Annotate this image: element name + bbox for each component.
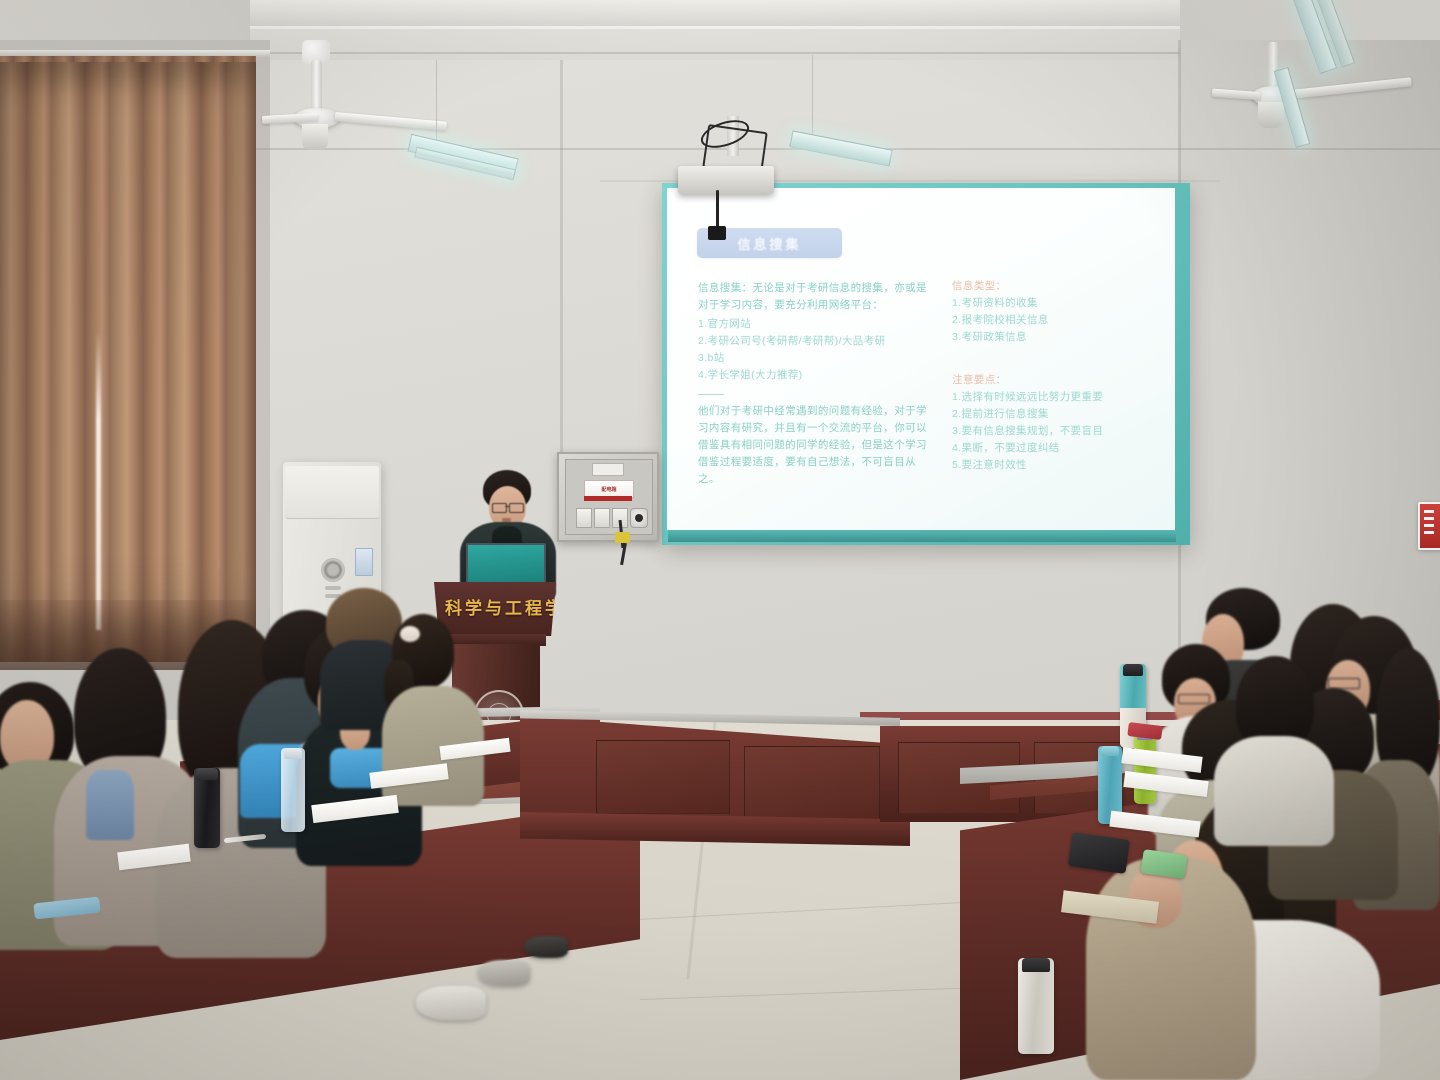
presenter-laptop[interactable] [466, 543, 546, 587]
slide-left-intro: 信息搜集：无论是对于考研信息的搜集，亦或是对于学习内容，要充分利用网络平台： [698, 280, 928, 314]
glasses-right-audience [1178, 694, 1210, 704]
ebox-label-text: 配电箱 [601, 486, 616, 493]
ebox-switch-1[interactable] [576, 508, 592, 528]
podium-top: 科学与工程学院 [434, 582, 556, 636]
curtain-light-gap [96, 330, 101, 630]
slide-divider [698, 394, 724, 395]
slide-left-item-4: 4.学长学姐(大力推荐) [698, 367, 928, 384]
ebox-switch-2[interactable] [594, 508, 610, 528]
scarf [86, 770, 134, 840]
slide-right-column: 信息类型： 1.考研资料的收集 2.报考院校相关信息 3.考研政策信息 注意要点… [952, 278, 1152, 474]
slide-keypoint-3: 3.要有信息搜集规划，不要盲目 [952, 423, 1152, 440]
projection-screen: 信息搜集 信息搜集：无论是对于考研信息的搜集，亦或是对于学习内容，要充分利用网络… [662, 183, 1190, 545]
thermos-black [194, 768, 220, 848]
slide-keypoint-2: 2.提前进行信息搜集 [952, 406, 1152, 423]
hair-scrunchie [400, 626, 420, 642]
slide-keypoint-1: 1.选择有时候远远比努力更重要 [952, 389, 1152, 406]
slide-left-column: 信息搜集：无论是对于考研信息的搜集，亦或是对于学习内容，要充分利用网络平台： 1… [698, 280, 928, 488]
electrical-plug [615, 532, 630, 543]
screen-surface: 信息搜集 信息搜集：无论是对于考研信息的搜集，亦或是对于学习内容，要充分利用网络… [667, 188, 1175, 530]
slide-left-item-3: 3.b站 [698, 350, 928, 367]
projector-body [678, 166, 774, 194]
wall-seam-vertical [560, 60, 563, 480]
slide-left-paragraph: 他们对于考研中经常遇到的问题有经验，对于学习内容有研究，并且有一个交流的平台，你… [698, 403, 928, 488]
slide-info-type-heading: 信息类型： [952, 278, 1152, 295]
glasses-right-lens [509, 503, 524, 513]
ebox-blank-label [592, 463, 624, 476]
slide-info-type-item-1: 1.考研资料的收集 [952, 295, 1152, 312]
thermos-white [1018, 958, 1054, 1054]
ebox-warning-strip [584, 496, 632, 501]
desk-modesty-panel-2 [744, 746, 880, 824]
shoe-left-2 [478, 960, 530, 986]
shoe-left-3 [524, 936, 568, 958]
water-bottle-clear [281, 748, 305, 832]
slide-left-item-2: 2.考研公司号(考研帮/考研帮)/大品考研 [698, 333, 928, 350]
slide-keypoints-heading: 注意要点： [952, 372, 1152, 389]
ebox-socket[interactable] [630, 508, 648, 528]
ac-display-panel [355, 548, 373, 576]
electrical-distribution-box: 配电箱 [557, 452, 659, 542]
projector-connector [708, 226, 726, 240]
ac-fan-grille [321, 558, 345, 582]
projector-cable [716, 190, 719, 228]
window-curtain [0, 62, 256, 662]
classroom-photo-scene: 信息搜集 信息搜集：无论是对于考研信息的搜集，亦或是对于学习内容，要充分利用网络… [0, 0, 1440, 1080]
screen-bottom-bar [668, 530, 1176, 542]
desk-modesty-panel-1 [596, 740, 730, 814]
light-hanger-wire [436, 60, 437, 150]
slide-title-text: 信息搜集 [737, 234, 801, 253]
glasses-left-lens [492, 503, 507, 513]
slide-info-type-item-2: 2.报考院校相关信息 [952, 312, 1152, 329]
slide-info-type-item-3: 3.考研政策信息 [952, 329, 1152, 346]
slide-keypoint-4: 4.果断，不要过度纠结 [952, 440, 1152, 457]
fire-equipment-sign [1418, 502, 1440, 550]
slide-keypoint-5: 5.要注意时效性 [952, 457, 1152, 474]
slide-left-item-1: 1.官方网站 [698, 316, 928, 333]
shoe-left-1 [416, 986, 486, 1020]
light-hanger-wire-2 [812, 55, 813, 143]
